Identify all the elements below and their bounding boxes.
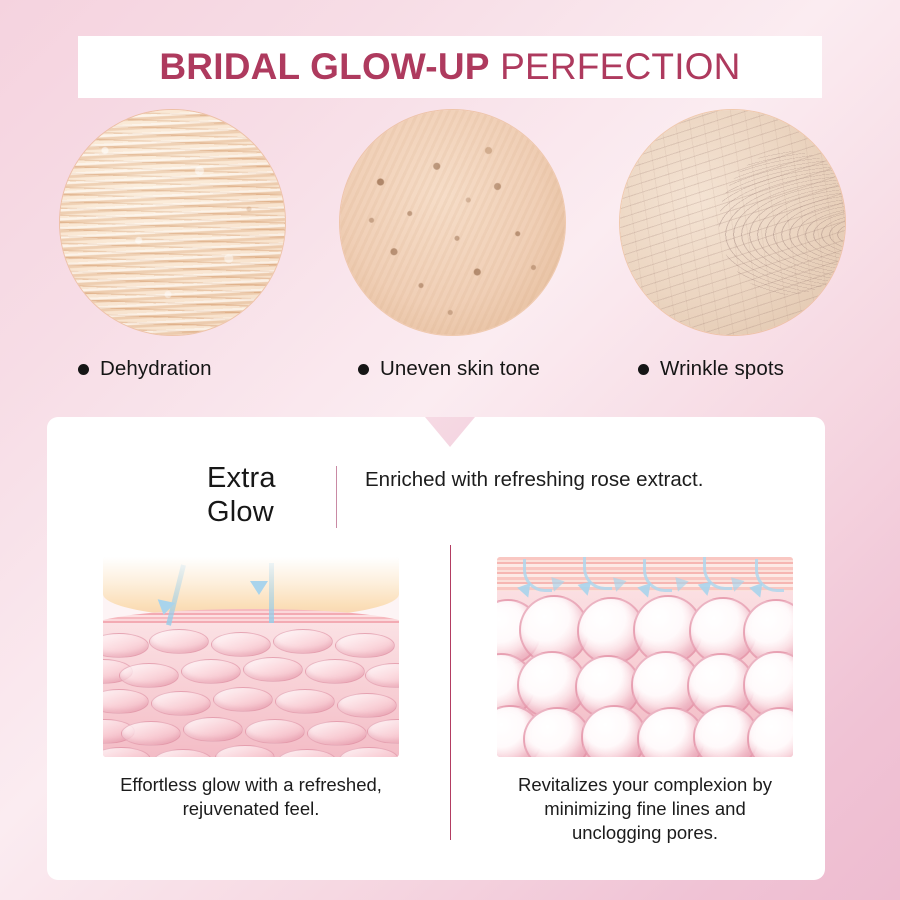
panel-divider [450, 545, 451, 840]
title-strong: BRIDAL GLOW-UP [159, 46, 489, 87]
concern-dehydration: Dehydration [60, 110, 290, 381]
flat-cell-grid [103, 623, 399, 757]
skin-closeup-uneven-tone [340, 110, 565, 335]
card-heading-row: Extra Glow Enriched with refreshing rose… [207, 462, 703, 530]
concern-label-dehydration: Dehydration [60, 357, 290, 381]
concern-wrinkle-spots: Wrinkle spots [620, 110, 850, 381]
panel-caption: Revitalizes your complexion by minimizin… [497, 773, 793, 845]
concern-label-text: Dehydration [100, 357, 212, 381]
panel-refreshed-glow: Effortless glow with a refreshed, rejuve… [103, 557, 399, 821]
concern-label-text: Uneven skin tone [380, 357, 540, 381]
card-description: Enriched with refreshing rose extract. [365, 462, 703, 493]
skin-closeup-dehydration [60, 110, 285, 335]
dry-flaky-skin-icon [60, 110, 285, 335]
bullet-icon [358, 364, 369, 375]
panel-revitalized-pores: Revitalizes your complexion by minimizin… [497, 557, 793, 845]
title-light: PERFECTION [500, 46, 740, 87]
heading-divider [336, 466, 337, 528]
concern-uneven-skin-tone: Uneven skin tone [340, 110, 570, 381]
wrinkled-skin-icon [620, 110, 845, 335]
panel-caption: Effortless glow with a refreshed, rejuve… [103, 773, 399, 821]
concern-label-wrinkle-spots: Wrinkle spots [620, 357, 850, 381]
card-heading-line1: Extra [207, 462, 322, 496]
title-banner: BRIDAL GLOW-UP PERFECTION [78, 36, 822, 98]
skin-closeup-wrinkles [620, 110, 845, 335]
bullet-icon [78, 364, 89, 375]
bullet-icon [638, 364, 649, 375]
spotted-skin-icon [340, 110, 565, 335]
info-card: Extra Glow Enriched with refreshing rose… [47, 417, 825, 880]
page-title: BRIDAL GLOW-UP PERFECTION [159, 46, 740, 88]
concern-label-uneven-skin-tone: Uneven skin tone [340, 357, 570, 381]
card-heading-line2: Glow [207, 496, 322, 530]
skin-cross-section-plump-cells-diagram [497, 557, 793, 757]
poster-root: BRIDAL GLOW-UP PERFECTION Dehydration Un… [0, 0, 900, 900]
skin-cross-section-flat-cells-diagram [103, 557, 399, 757]
concern-label-text: Wrinkle spots [660, 357, 784, 381]
card-heading: Extra Glow [207, 462, 322, 530]
